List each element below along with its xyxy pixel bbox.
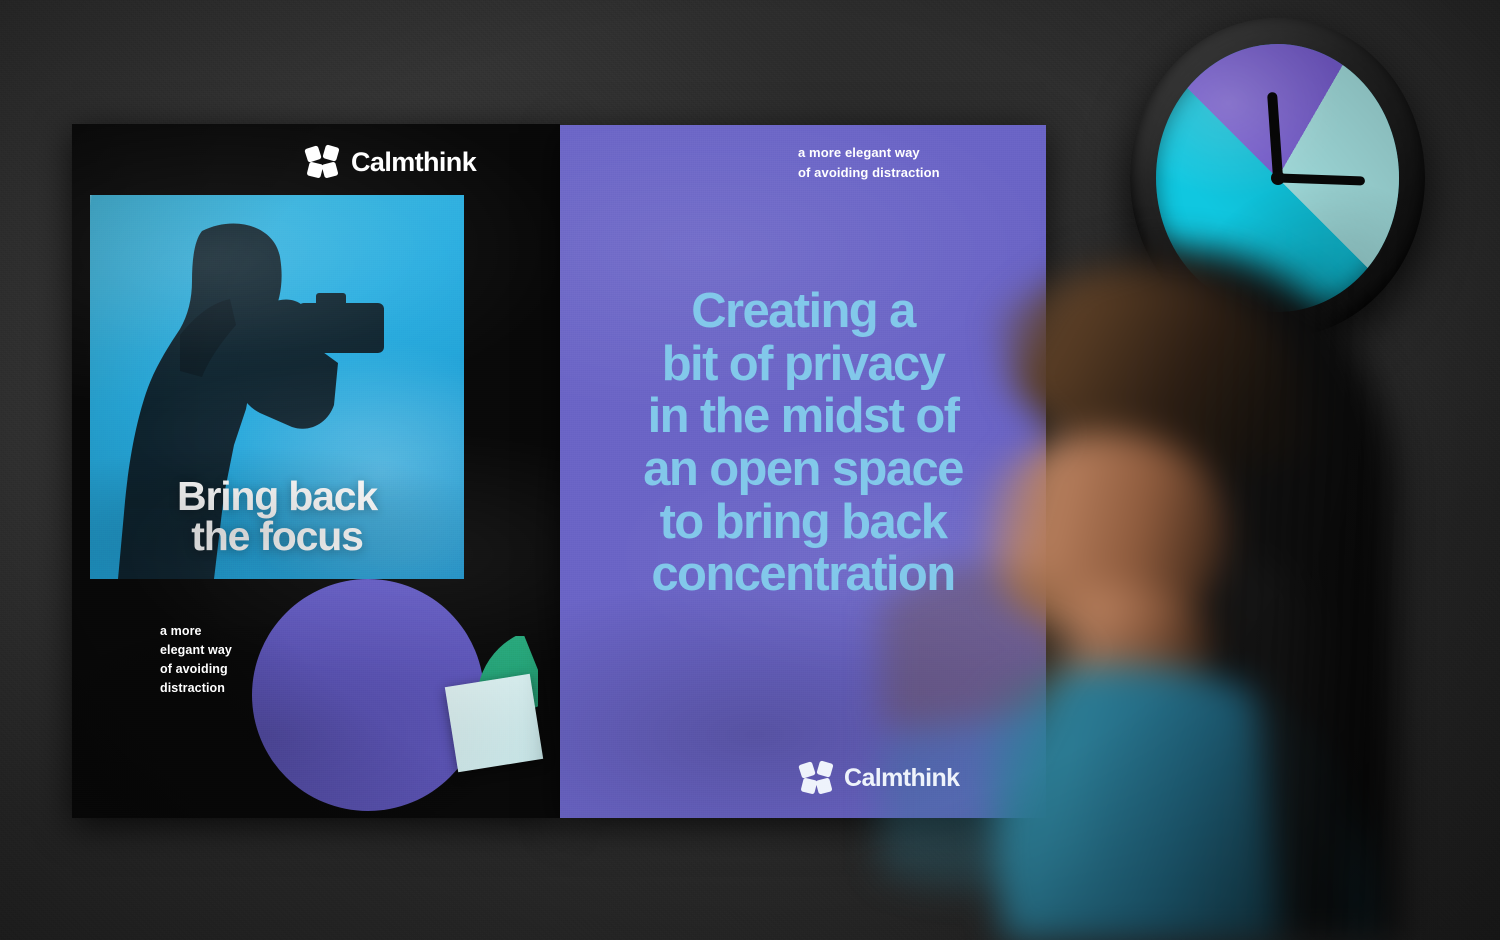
kicker-line-1: a more elegant way	[798, 143, 940, 163]
caption-line-3: of avoiding	[160, 660, 232, 679]
calmthink-logo-icon	[306, 146, 340, 178]
caption-line-2: elegant way	[160, 641, 232, 660]
headline-line-6: concentration	[560, 548, 1046, 601]
headline-line-4: an open space	[560, 443, 1046, 496]
headline-line-1: Creating a	[560, 285, 1046, 338]
caption-line-4: distraction	[160, 679, 232, 698]
brand-wordmark: Calmthink	[351, 149, 476, 176]
scene: Calmthink Bring	[0, 0, 1500, 940]
caption-line-1: a more	[160, 622, 232, 641]
headline-line-2: bit of privacy	[560, 338, 1046, 391]
poster-right-headline: Creating a bit of privacy in the midst o…	[560, 285, 1046, 601]
brand-lockup-bottom: Calmthink	[800, 762, 959, 794]
poster-left-caption: a more elegant way of avoiding distracti…	[160, 622, 232, 698]
headline-line-3: in the midst of	[560, 390, 1046, 443]
headline-line-5: to bring back	[560, 496, 1046, 549]
poster-right-kicker: a more elegant way of avoiding distracti…	[798, 143, 940, 182]
calmthink-logo-icon	[800, 762, 834, 794]
brand-lockup-top: Calmthink	[306, 146, 476, 178]
brand-wordmark: Calmthink	[844, 766, 959, 791]
kicker-line-2: of avoiding distraction	[798, 163, 940, 183]
